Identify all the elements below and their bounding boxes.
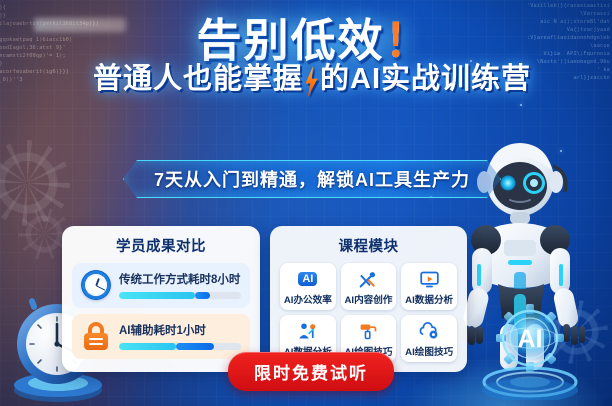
result-row-label: AI辅助耗时1小时 (119, 322, 241, 338)
progress-fill-cyan (119, 292, 195, 299)
module-tile-grid: AI AI办公效率 AI内容创作 (280, 263, 457, 362)
ai-hologram-badge: AI (478, 302, 582, 400)
paint-roller-icon (343, 320, 395, 342)
lightning-bolt-icon (302, 66, 321, 97)
monitor-play-icon (403, 268, 455, 290)
module-tile-label: AI内容创作 (343, 292, 395, 306)
result-row-traditional[interactable]: 传统工作方式耗时8小时 (72, 263, 250, 308)
progress-fill-blue (176, 343, 214, 350)
subtitle-part-2: 的AI实战训练营 (320, 63, 531, 96)
subtitle-part-1: 普通人也能掌握 (93, 63, 303, 96)
results-card: 学员成果对比 传统工作方式耗时8小时 AI辅助耗 (62, 226, 260, 372)
exclamation-mark: ！ (385, 15, 432, 66)
modules-card-title: 课程模块 (280, 235, 457, 256)
module-tile-office[interactable]: AI AI办公效率 (280, 263, 336, 310)
module-tile-paint-2[interactable]: AI绘图技巧 (401, 315, 457, 362)
module-tile-content[interactable]: AI内容创作 (341, 263, 397, 310)
result-row-ai[interactable]: AI辅助耗时1小时 (72, 314, 250, 359)
poster-canvas: (){ {)} ailajoaebrtit(perkil360it34p)}) … (0, 0, 612, 406)
info-panel: 学员成果对比 传统工作方式耗时8小时 AI辅助耗 (62, 226, 467, 372)
page-subtitle: 普通人也能掌握 的AI实战训练营 (6, 63, 612, 96)
progress-bar-ai (119, 343, 241, 350)
ai-badge-icon: AI (282, 268, 334, 290)
gear-cloud-icon (403, 320, 455, 342)
results-card-title: 学员成果对比 (72, 235, 250, 256)
module-tile-label: AI办公效率 (282, 292, 334, 306)
page-title: 告别低效！ (190, 16, 437, 65)
progress-bar-traditional (119, 292, 241, 299)
lock-icon (81, 321, 111, 351)
svg-text:AI: AI (518, 325, 543, 353)
progress-fill-blue (195, 292, 211, 299)
module-tile-data-1[interactable]: AI数据分析 (401, 263, 457, 310)
pen-brush-icon (343, 268, 395, 290)
result-row-label: 传统工作方式耗时8小时 (119, 271, 241, 287)
module-tile-label: AI数据分析 (403, 292, 455, 306)
module-tile-label: AI绘图技巧 (403, 344, 455, 358)
headline-block: 告别低效！ 普通人也能掌握 的AI实战训练营 (0, 16, 612, 96)
free-trial-cta-button[interactable]: 限时免费试听 (228, 352, 394, 391)
progress-fill-cyan (119, 343, 176, 350)
tagline-banner: 7天从入门到精通，解锁AI工具生产力 (123, 160, 501, 198)
person-chart-icon (282, 320, 334, 342)
modules-card: 课程模块 AI AI办公效率 AI内容创作 (270, 226, 467, 372)
clock-icon (81, 270, 111, 300)
page-title-text: 告别低效 (196, 15, 384, 66)
